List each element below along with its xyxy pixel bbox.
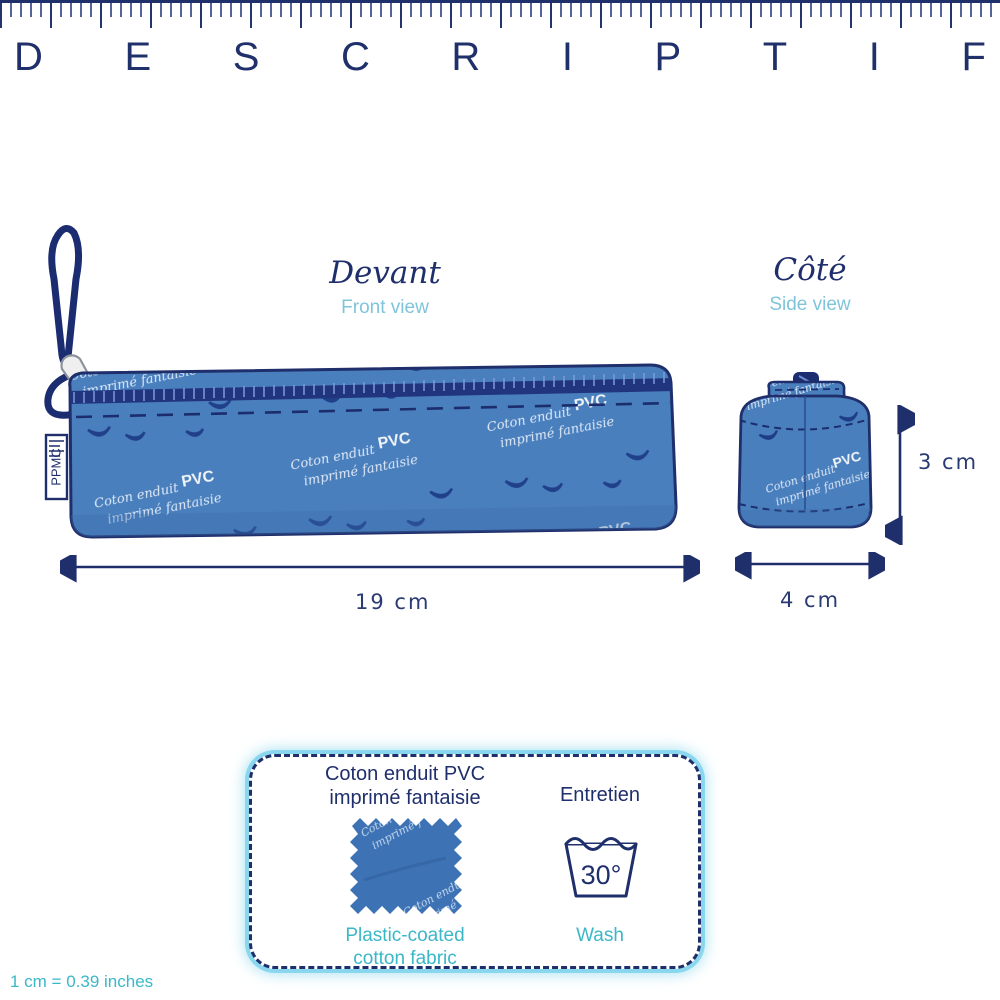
material-sub-line1: Plastic-coated — [290, 924, 520, 947]
ruler-tick-minor — [510, 3, 512, 17]
ruler-tick-minor — [790, 3, 792, 17]
ruler-tick-minor — [230, 3, 232, 17]
ruler-tick-minor — [190, 3, 192, 17]
ruler-tick-minor — [610, 3, 612, 17]
ruler-tick-major — [700, 3, 702, 28]
page-title-letter-6: P — [655, 37, 682, 77]
side-view-depth-arrow — [735, 552, 885, 582]
material-info-block: Coton enduit PVC imprimé fantaisie — [290, 762, 520, 811]
material-sub-block: Plastic-coated cotton fabric — [290, 924, 520, 970]
page-title-letter-8: I — [869, 37, 880, 77]
ruler-tick-minor — [520, 3, 522, 17]
ruler-tick-major — [550, 3, 552, 28]
ruler-tick-minor — [870, 3, 872, 17]
ruler-tick-minor — [460, 3, 462, 17]
svg-text:PPMC: PPMC — [48, 448, 63, 486]
page-title-letter-1: E — [124, 37, 151, 77]
page-title: DESCRIPTIF — [0, 28, 1000, 86]
ruler-tick-minor — [660, 3, 662, 17]
ruler-tick-minor — [220, 3, 222, 17]
ruler-tick-major — [0, 3, 2, 28]
ruler-tick-minor — [860, 3, 862, 17]
ruler-tick-minor — [480, 3, 482, 17]
side-view-height-arrow — [885, 405, 915, 545]
ruler-tick-minor — [770, 3, 772, 17]
ruler-tick-minor — [970, 3, 972, 17]
unit-conversion-note: 1 cm = 0.39 inches — [10, 972, 153, 992]
ruler-tick-major — [300, 3, 302, 28]
ruler-tick-minor — [110, 3, 112, 17]
ruler-tick-minor — [360, 3, 362, 17]
ruler-tick-minor — [430, 3, 432, 17]
ruler-tick-minor — [270, 3, 272, 17]
care-title: Entretien — [520, 783, 680, 807]
ruler-tick-minor — [990, 3, 992, 17]
front-view-illustration: Coton enduit PVC imprimé fantaisie — [30, 215, 710, 565]
ruler-tick-minor — [70, 3, 72, 17]
page-title-letter-9: F — [961, 37, 985, 77]
ruler-tick-major — [350, 3, 352, 28]
ruler-tick-minor — [410, 3, 412, 17]
pouch-body — [68, 365, 676, 539]
ruler-tick-minor — [280, 3, 282, 17]
ruler-tick-major — [250, 3, 252, 28]
dimension-label-width: 19 cm — [355, 590, 430, 614]
ruler-tick-minor — [310, 3, 312, 17]
page-title-letter-0: D — [14, 37, 43, 77]
ruler-tick-minor — [80, 3, 82, 17]
ruler-tick-minor — [530, 3, 532, 17]
side-view-caption: Côté Side view — [730, 255, 890, 314]
ruler-tick-minor — [210, 3, 212, 17]
ruler-tick-minor — [440, 3, 442, 17]
ruler-tick-major — [950, 3, 952, 28]
ruler-tick-minor — [620, 3, 622, 17]
wash-tub-icon: 30° — [558, 832, 644, 904]
front-view-width-arrow — [60, 555, 700, 585]
ruler-tick-minor — [890, 3, 892, 17]
side-view-caption-en: Side view — [730, 295, 890, 314]
ruler-tick-minor — [740, 3, 742, 17]
ruler-tick-minor — [810, 3, 812, 17]
ruler-tick-major — [50, 3, 52, 28]
page-title-letter-2: S — [233, 37, 260, 77]
side-view-body — [739, 396, 873, 530]
page-title-letter-3: C — [341, 37, 370, 77]
page-title-letter-7: T — [763, 37, 787, 77]
ruler-tick-minor — [690, 3, 692, 17]
ruler-tick-minor — [920, 3, 922, 17]
ruler-tick-minor — [980, 3, 982, 17]
ruler-tick-minor — [720, 3, 722, 17]
ruler-tick-minor — [470, 3, 472, 17]
care-info-block: Entretien — [520, 783, 680, 807]
ruler-tick-minor — [380, 3, 382, 17]
ruler-tick-minor — [420, 3, 422, 17]
ruler-tick-minor — [240, 3, 242, 17]
ruler-tick-minor — [180, 3, 182, 17]
ruler-tick-minor — [330, 3, 332, 17]
ruler-tick-minor — [940, 3, 942, 17]
ruler-tick-minor — [160, 3, 162, 17]
brand-label-ppmc: PPMC — [46, 435, 67, 499]
material-sub-line2: cotton fabric — [290, 947, 520, 970]
ruler-tick-minor — [820, 3, 822, 17]
ruler-tick-minor — [10, 3, 12, 17]
ruler-tick-minor — [710, 3, 712, 17]
ruler-ticks — [0, 3, 1000, 29]
ruler-tick-major — [650, 3, 652, 28]
ruler-tick-minor — [60, 3, 62, 17]
wash-temperature-text: 30° — [581, 860, 622, 890]
ruler-tick-minor — [730, 3, 732, 17]
ruler-tick-minor — [390, 3, 392, 17]
fabric-swatch-icon: Coton enduit imprimé f — [342, 810, 472, 925]
ruler-tick-major — [400, 3, 402, 28]
care-sub: Wash — [520, 924, 680, 947]
ruler-tick-major — [600, 3, 602, 28]
ruler-tick-minor — [560, 3, 562, 17]
ruler-tick-minor — [30, 3, 32, 17]
ruler-tick-minor — [680, 3, 682, 17]
page-title-letter-5: I — [562, 37, 573, 77]
ruler-tick-minor — [760, 3, 762, 17]
ruler-tick-minor — [120, 3, 122, 17]
ruler-tick-minor — [930, 3, 932, 17]
ruler-tick-major — [500, 3, 502, 28]
care-sub-block: Wash — [520, 924, 680, 947]
ruler-tick-minor — [260, 3, 262, 17]
ruler-tick-minor — [830, 3, 832, 17]
ruler-tick-minor — [90, 3, 92, 17]
ruler-tick-minor — [780, 3, 782, 17]
material-title-line2: imprimé fantaisie — [290, 786, 520, 810]
ruler-tick-minor — [340, 3, 342, 17]
ruler-tick-minor — [880, 3, 882, 17]
ruler-tick-minor — [170, 3, 172, 17]
ruler-tick-minor — [590, 3, 592, 17]
ruler-tick-minor — [370, 3, 372, 17]
ruler-tick-major — [750, 3, 752, 28]
ruler-tick-minor — [840, 3, 842, 17]
ruler-tick-minor — [580, 3, 582, 17]
ruler-tick-major — [900, 3, 902, 28]
ruler-tick-minor — [640, 3, 642, 17]
ruler-tick-minor — [140, 3, 142, 17]
ruler-tick-major — [800, 3, 802, 28]
ruler-tick-minor — [130, 3, 132, 17]
header-ruler — [0, 0, 1000, 30]
ruler-tick-major — [850, 3, 852, 28]
ruler-tick-minor — [910, 3, 912, 17]
ruler-tick-minor — [320, 3, 322, 17]
ruler-tick-major — [150, 3, 152, 28]
ruler-tick-minor — [630, 3, 632, 17]
side-view-caption-fr: Côté — [730, 255, 890, 286]
ruler-tick-major — [200, 3, 202, 28]
ruler-tick-minor — [670, 3, 672, 17]
ruler-tick-minor — [960, 3, 962, 17]
page-title-letter-4: R — [451, 37, 480, 77]
ruler-tick-minor — [20, 3, 22, 17]
ruler-tick-major — [100, 3, 102, 28]
ruler-tick-minor — [570, 3, 572, 17]
side-view-illustration: Coton enduit PVC imprimé fantaisie — [725, 370, 895, 545]
ruler-tick-minor — [490, 3, 492, 17]
ruler-tick-minor — [540, 3, 542, 17]
ruler-tick-minor — [290, 3, 292, 17]
dimension-label-height: 3 cm — [918, 450, 978, 474]
dimension-label-depth: 4 cm — [780, 588, 840, 612]
ruler-tick-minor — [40, 3, 42, 17]
ruler-tick-major — [450, 3, 452, 28]
material-title-line1: Coton enduit PVC — [290, 762, 520, 786]
